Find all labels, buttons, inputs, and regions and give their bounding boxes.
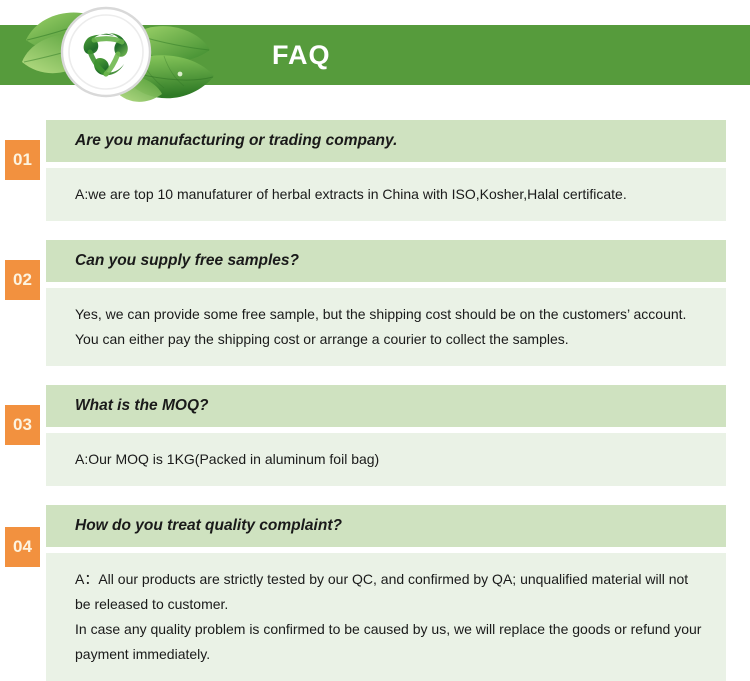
logo-circle-badge bbox=[62, 8, 150, 96]
faq-answer: Yes, we can provide some free sample, bu… bbox=[46, 288, 726, 366]
faq-number-badge: 02 bbox=[5, 260, 40, 300]
faq-answer: A:Our MOQ is 1KG(Packed in aluminum foil… bbox=[46, 433, 726, 486]
faq-item: 04 How do you treat quality complaint? A… bbox=[0, 505, 750, 681]
faq-list: 01 Are you manufacturing or trading comp… bbox=[0, 120, 750, 681]
faq-answer-line: A:Our MOQ is 1KG(Packed in aluminum foil… bbox=[75, 447, 704, 472]
leaf-circle-logo bbox=[14, 0, 224, 115]
page-header: FAQ bbox=[0, 0, 750, 120]
faq-question[interactable]: What is the MOQ? bbox=[46, 385, 726, 427]
faq-item: 01 Are you manufacturing or trading comp… bbox=[0, 120, 750, 221]
faq-qa-column: Are you manufacturing or trading company… bbox=[46, 120, 726, 221]
faq-qa-column: Can you supply free samples? Yes, we can… bbox=[46, 240, 726, 366]
faq-question[interactable]: Can you supply free samples? bbox=[46, 240, 726, 282]
faq-qa-column: How do you treat quality complaint? A：Al… bbox=[46, 505, 726, 681]
faq-number-badge: 03 bbox=[5, 405, 40, 445]
faq-answer: A:we are top 10 manufaturer of herbal ex… bbox=[46, 168, 726, 221]
faq-item: 02 Can you supply free samples? Yes, we … bbox=[0, 240, 750, 366]
faq-answer-line: In case any quality problem is confirmed… bbox=[75, 617, 704, 667]
faq-item: 03 What is the MOQ? A:Our MOQ is 1KG(Pac… bbox=[0, 385, 750, 486]
faq-number-badge: 04 bbox=[5, 527, 40, 567]
page-title: FAQ bbox=[272, 37, 331, 73]
faq-answer: A：All our products are strictly tested b… bbox=[46, 553, 726, 681]
faq-question[interactable]: Are you manufacturing or trading company… bbox=[46, 120, 726, 162]
faq-answer-line: A:we are top 10 manufaturer of herbal ex… bbox=[75, 182, 704, 207]
faq-answer-line: Yes, we can provide some free sample, bu… bbox=[75, 302, 704, 352]
faq-qa-column: What is the MOQ? A:Our MOQ is 1KG(Packed… bbox=[46, 385, 726, 486]
faq-question[interactable]: How do you treat quality complaint? bbox=[46, 505, 726, 547]
faq-answer-line: A：All our products are strictly tested b… bbox=[75, 567, 704, 617]
faq-number-badge: 01 bbox=[5, 140, 40, 180]
